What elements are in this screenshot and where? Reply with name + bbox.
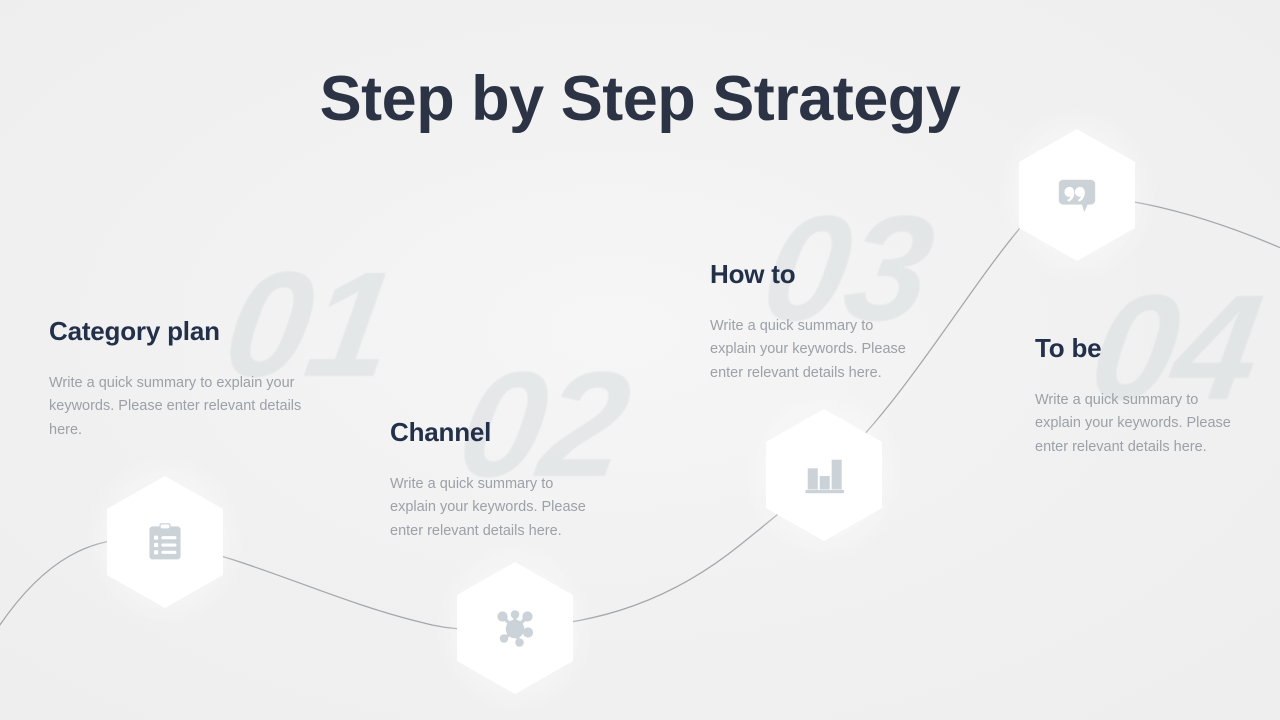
- step-marker-3[interactable]: [766, 409, 882, 541]
- slide-canvas: 01 02 03 04 Step by Step Strategy Catego…: [0, 0, 1280, 720]
- step-body-4: Write a quick summary to explain your ke…: [1035, 389, 1235, 460]
- step-heading-3: How to: [710, 260, 916, 289]
- bar-chart-icon: [801, 453, 847, 497]
- step-text-block-2: Channel Write a quick summary to explain…: [390, 418, 602, 543]
- clipboard-checklist-icon: [143, 520, 187, 564]
- step-body-1: Write a quick summary to explain your ke…: [49, 372, 311, 443]
- step-marker-2[interactable]: [457, 562, 573, 694]
- step-marker-1[interactable]: [107, 476, 223, 608]
- slide-title: Step by Step Strategy: [0, 66, 1280, 133]
- quote-bubble-icon: [1053, 173, 1101, 217]
- step-heading-4: To be: [1035, 334, 1235, 363]
- step-body-2: Write a quick summary to explain your ke…: [390, 473, 602, 544]
- network-hub-icon: [491, 604, 539, 652]
- step-body-3: Write a quick summary to explain your ke…: [710, 315, 916, 386]
- step-text-block-1: Category plan Write a quick summary to e…: [49, 317, 311, 442]
- step-heading-2: Channel: [390, 418, 602, 447]
- step-text-block-3: How to Write a quick summary to explain …: [710, 260, 916, 385]
- step-heading-1: Category plan: [49, 317, 311, 346]
- step-marker-4[interactable]: [1019, 129, 1135, 261]
- step-text-block-4: To be Write a quick summary to explain y…: [1035, 334, 1235, 459]
